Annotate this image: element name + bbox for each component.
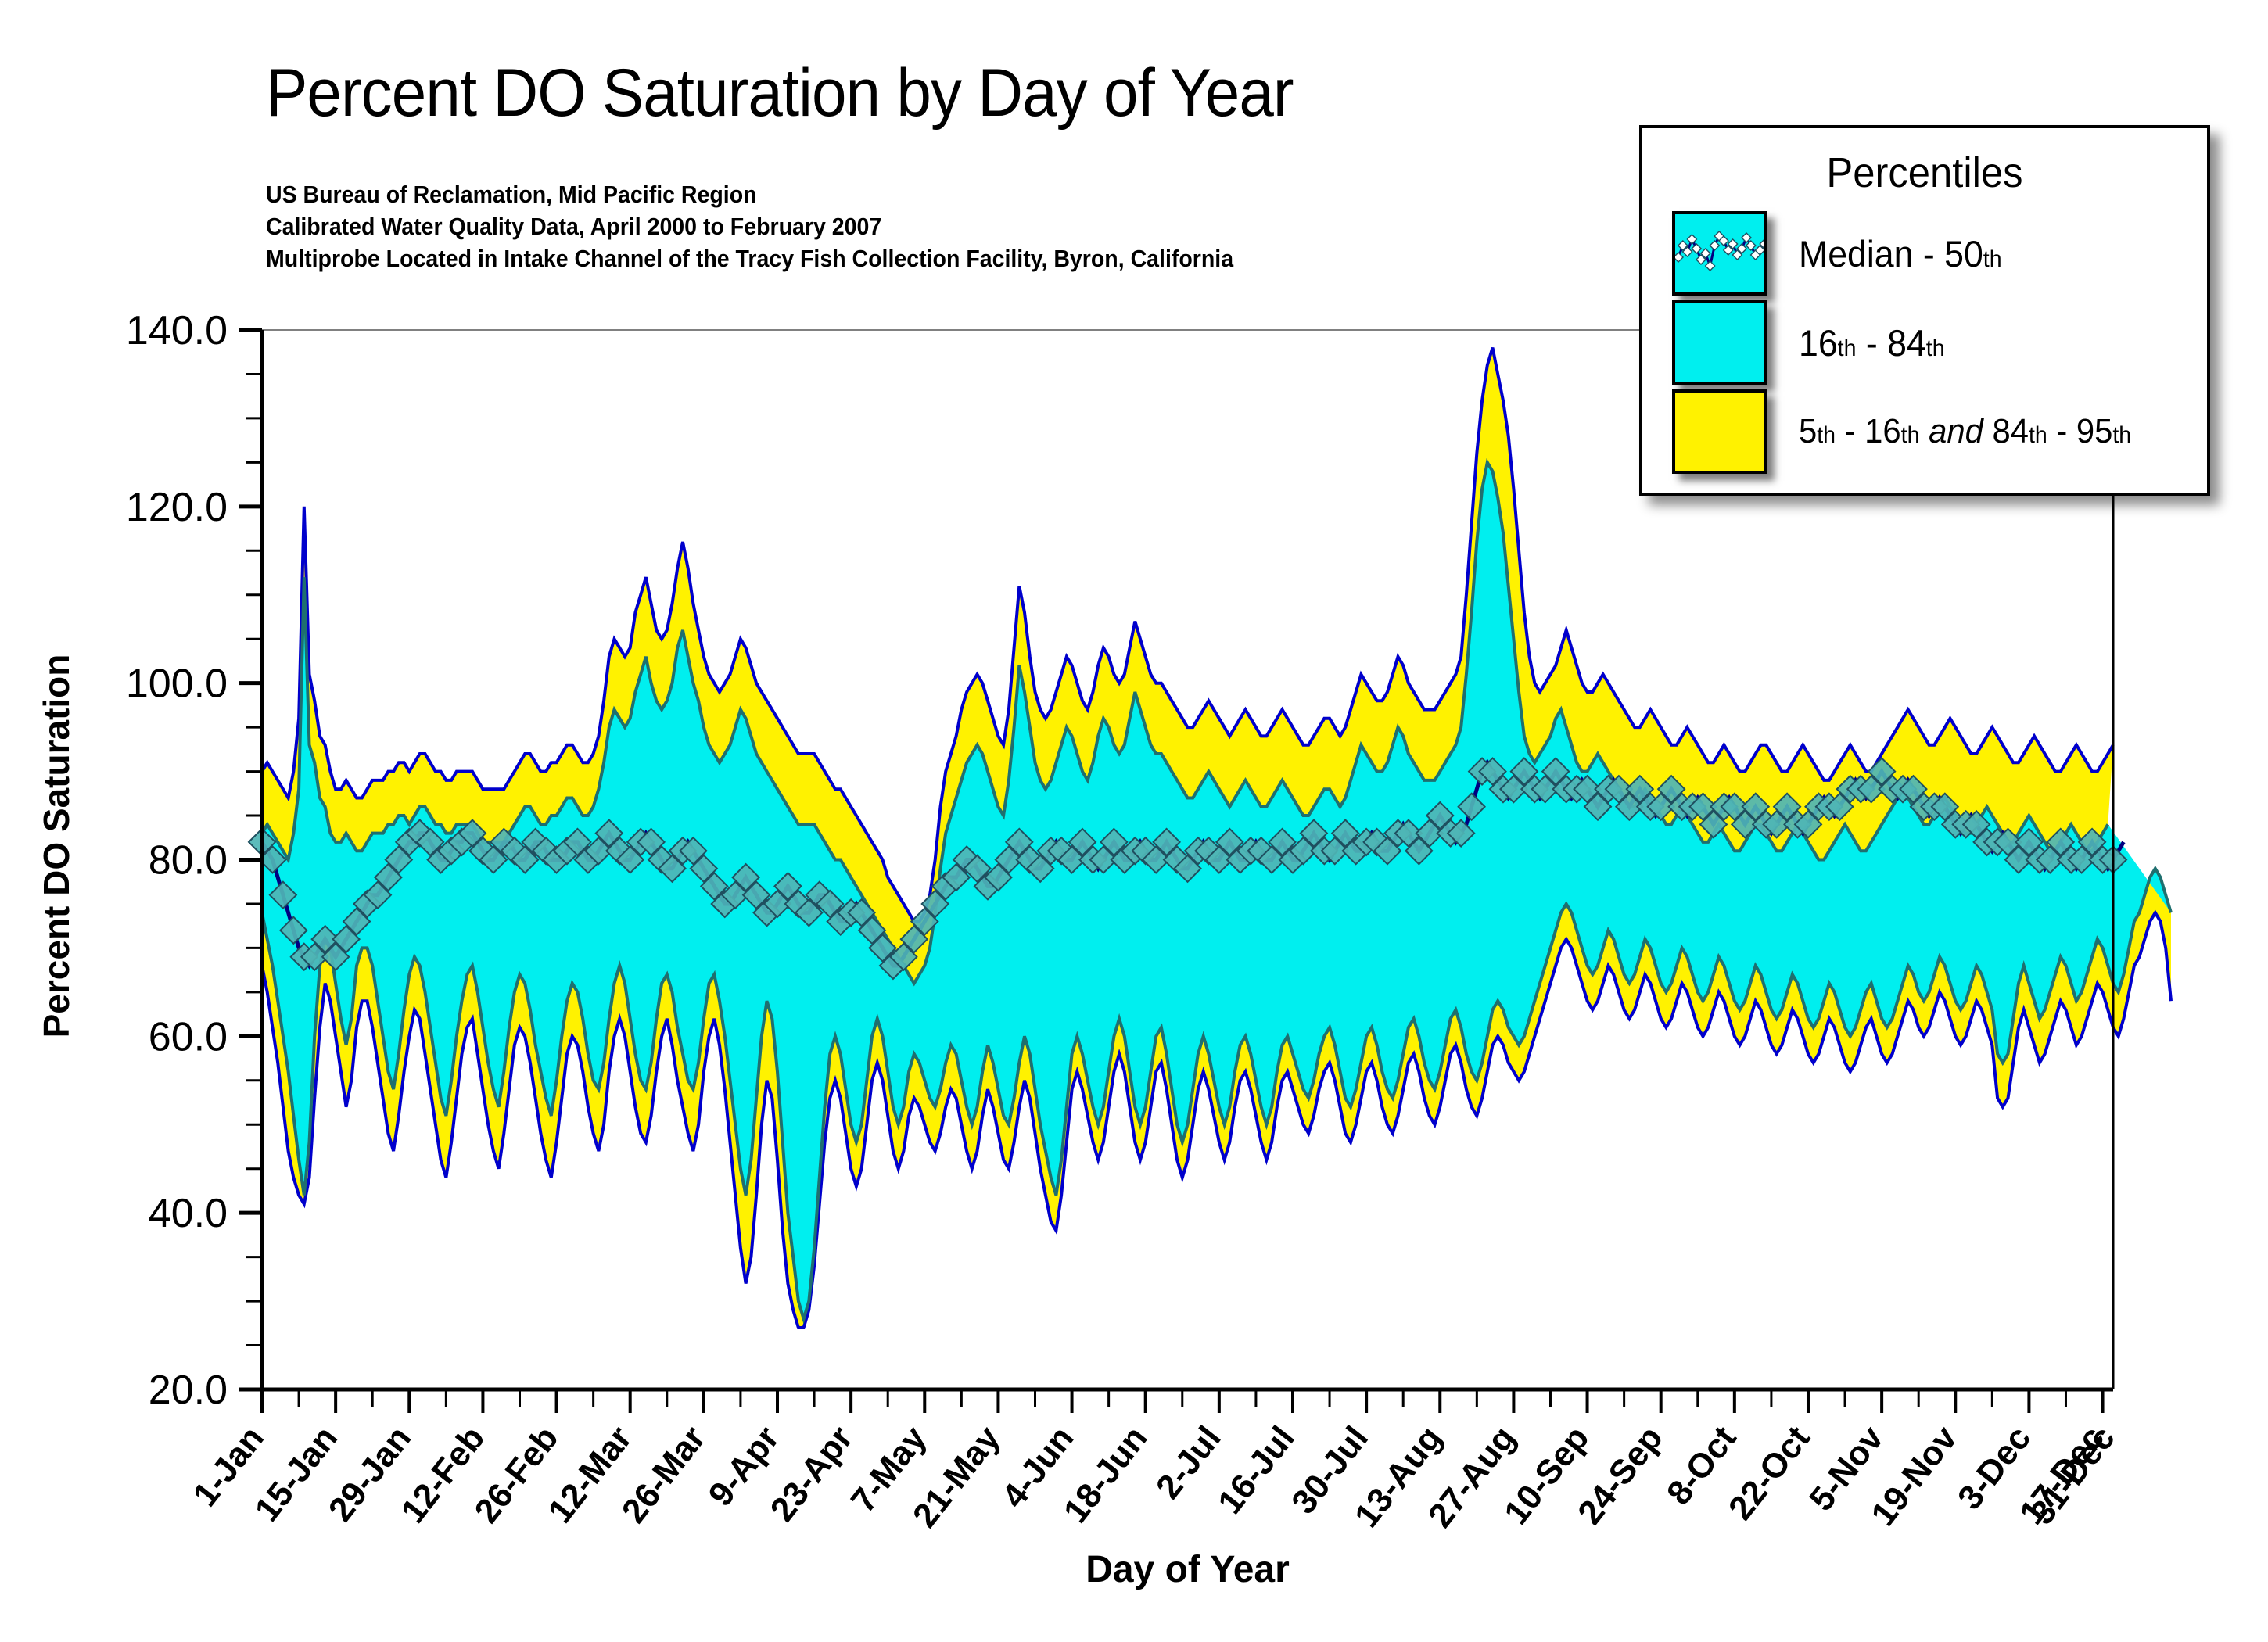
x-tick-label: 16-Jul [1211, 1419, 1302, 1521]
y-tick-label: 20.0 [149, 1368, 228, 1413]
legend-rows: Median - 50th 16th - 84th 5th - 16th and… [1672, 210, 2199, 477]
legend-item-5-16-84-95[interactable]: 5th - 16th and 84th - 95th [1672, 388, 2199, 475]
legend-item-16-84[interactable]: 16th - 84th [1672, 299, 2199, 386]
x-tick-label: 23-Apr [763, 1419, 860, 1529]
legend-label-median: Median - 50th [1799, 232, 2002, 275]
legend-swatch-16-84 [1672, 300, 1767, 385]
legend-title: Percentiles [1660, 149, 2191, 197]
x-tick-label: 22-Oct [1721, 1419, 1818, 1527]
y-tick-label: 140.0 [126, 308, 228, 353]
y-tick-label: 100.0 [126, 661, 228, 707]
legend-swatch-median [1672, 211, 1767, 296]
chart-canvas: Percent DO Saturation by Day of Year US … [0, 0, 2268, 1642]
legend-item-median[interactable]: Median - 50th [1672, 210, 2199, 297]
y-tick-label: 60.0 [149, 1014, 228, 1059]
y-tick-label: 40.0 [149, 1191, 228, 1236]
legend-label-5-16-84-95: 5th - 16th and 84th - 95th [1799, 412, 2131, 451]
legend-label-16-84: 16th - 84th [1799, 321, 1945, 364]
legend-swatch-5-16-84-95 [1672, 389, 1767, 474]
y-tick-label: 120.0 [126, 485, 228, 530]
legend: Percentiles Median - 50th 16th - 84th 5t… [1639, 125, 2210, 496]
y-tick-label: 80.0 [149, 838, 228, 884]
